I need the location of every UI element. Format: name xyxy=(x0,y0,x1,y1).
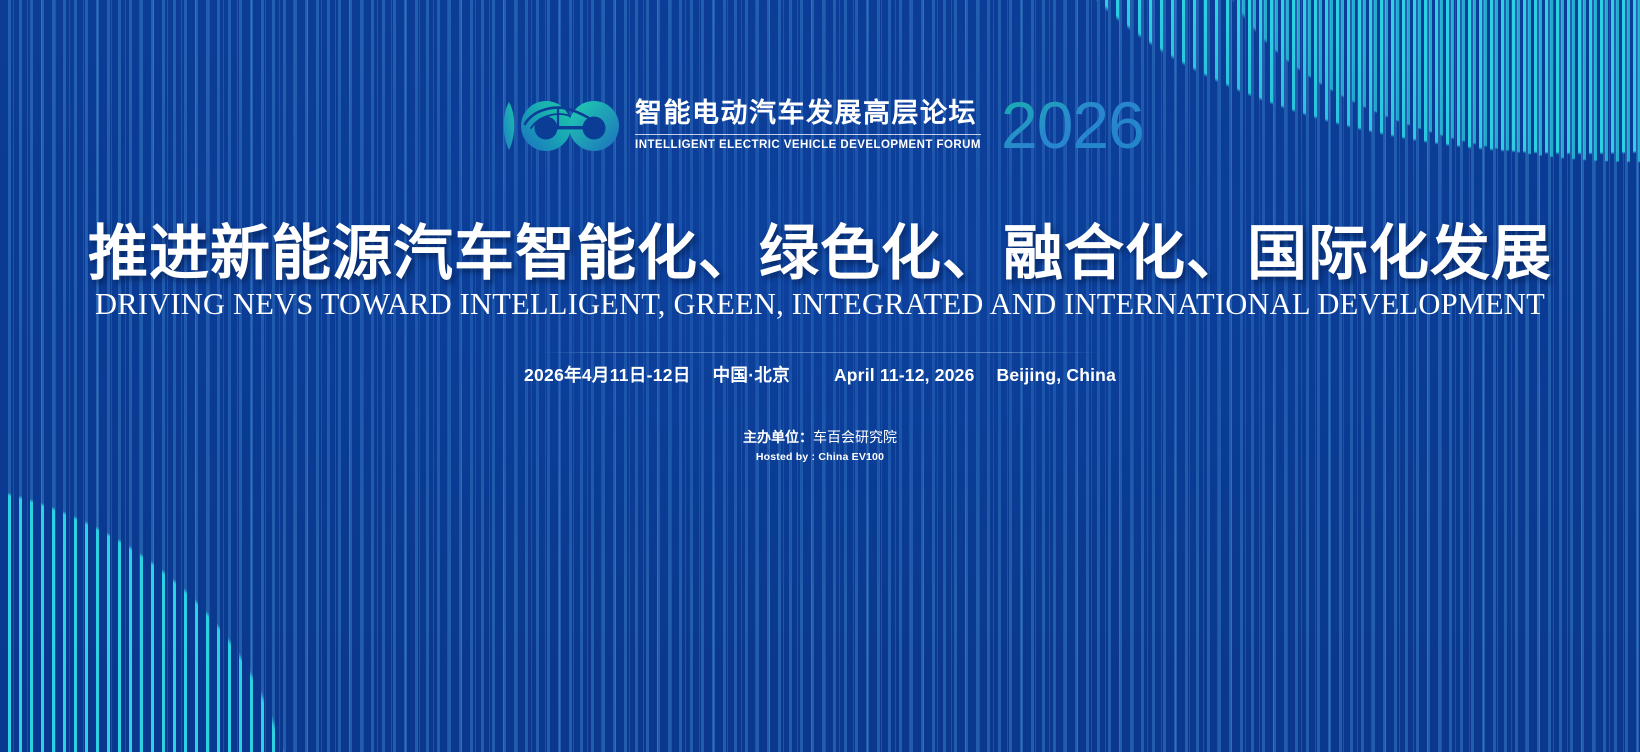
leaf-and-car-wheels-logo-icon xyxy=(497,94,621,156)
forum-name-en: INTELLIGENT ELECTRIC VEHICLE DEVELOPMENT… xyxy=(635,139,981,151)
host-value-cn: 车百会研究院 xyxy=(813,429,897,445)
host-line-cn: 主办单位：车百会研究院 xyxy=(0,427,1640,447)
host-label-cn: 主办单位： xyxy=(743,429,813,445)
host-block: 主办单位：车百会研究院 Hosted by : China EV100 xyxy=(0,427,1640,463)
city-en: Beijing, China xyxy=(997,365,1116,386)
forum-name-cn: 智能电动汽车发展高层论坛 xyxy=(635,99,981,129)
year-2026-label: 2026 xyxy=(1001,92,1143,158)
year-2026: 2026 xyxy=(1001,92,1143,158)
city-cn: 中国·北京 xyxy=(713,362,790,387)
date-cn: 2026年4月11日-12日 xyxy=(524,362,691,387)
date-en: April 11-12, 2026 xyxy=(834,365,975,386)
logo-divider xyxy=(635,134,981,135)
host-line-en: Hosted by : China EV100 xyxy=(0,451,1640,463)
logo-text-block: 智能电动汽车发展高层论坛 INTELLIGENT ELECTRIC VEHICL… xyxy=(635,99,981,151)
date-divider xyxy=(540,352,1100,353)
date-location-row: 2026年4月11日-12日 中国·北京 April 11-12, 2026 B… xyxy=(0,362,1640,387)
headline-cn: 推进新能源汽车智能化、绿色化、融合化、国际化发展 xyxy=(0,205,1640,292)
headline-en: DRIVING NEVS TOWARD INTELLIGENT, GREEN, … xyxy=(0,287,1640,322)
logo-lockup: 智能电动汽车发展高层论坛 INTELLIGENT ELECTRIC VEHICL… xyxy=(0,92,1640,158)
